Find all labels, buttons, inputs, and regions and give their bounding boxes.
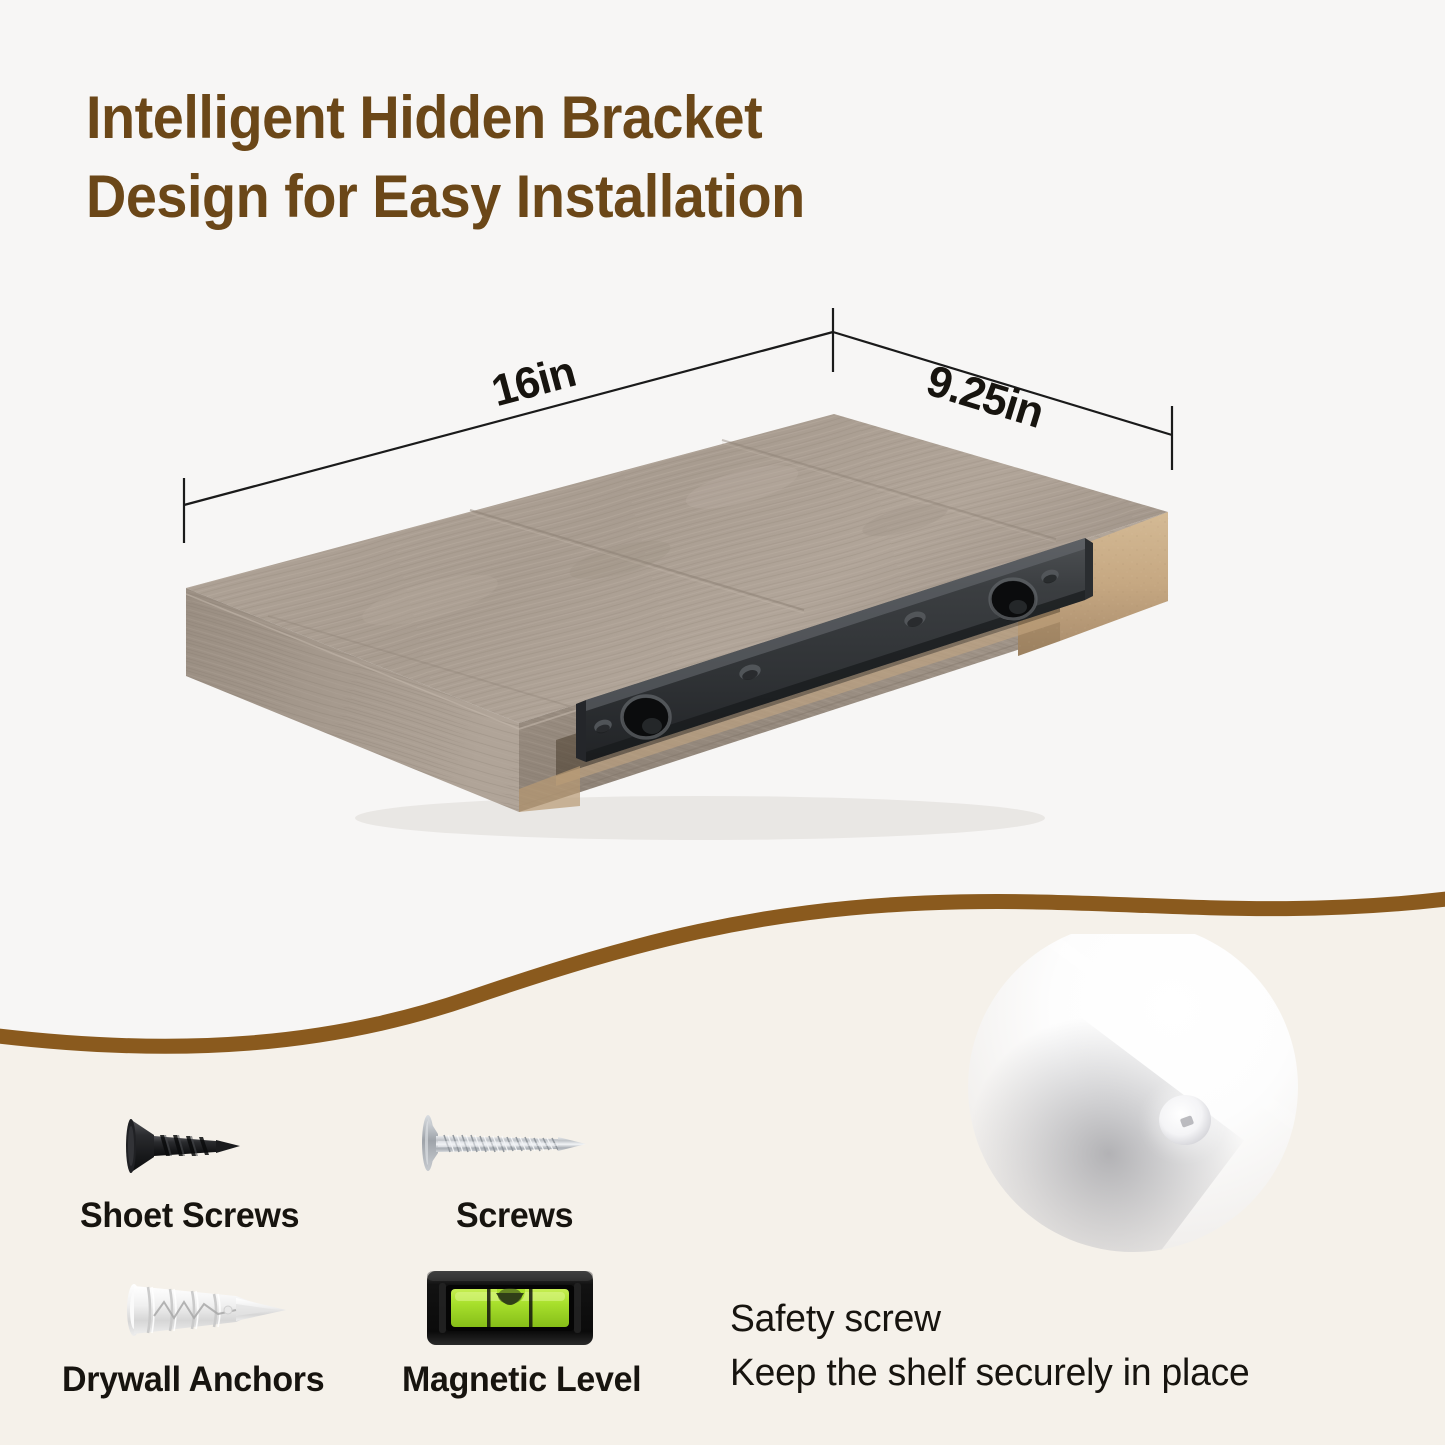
white-drywall-anchor-icon — [118, 1270, 293, 1350]
accessory-label-screws: Screws — [456, 1196, 573, 1236]
accessory-label-magnetic-level: Magnetic Level — [402, 1360, 641, 1400]
infographic-page: Intelligent Hidden Bracket Design for Ea… — [0, 0, 1445, 1445]
safety-screw-head — [1159, 1095, 1211, 1145]
safety-screw-inset — [968, 922, 1298, 1252]
black-countersunk-screw-icon — [120, 1105, 250, 1185]
accessory-label-drywall-anchors: Drywall Anchors — [62, 1360, 324, 1400]
bubble-level-icon — [425, 1265, 595, 1351]
safety-screw-caption: Safety screw Keep the shelf securely in … — [730, 1293, 1250, 1401]
silver-wafer-head-screw-icon — [408, 1108, 593, 1178]
product-illustration — [0, 0, 1445, 1010]
shelf-shadow — [355, 796, 1045, 840]
accessory-label-shoet-screws: Shoet Screws — [80, 1196, 299, 1236]
shelf-svg — [0, 0, 1445, 1010]
